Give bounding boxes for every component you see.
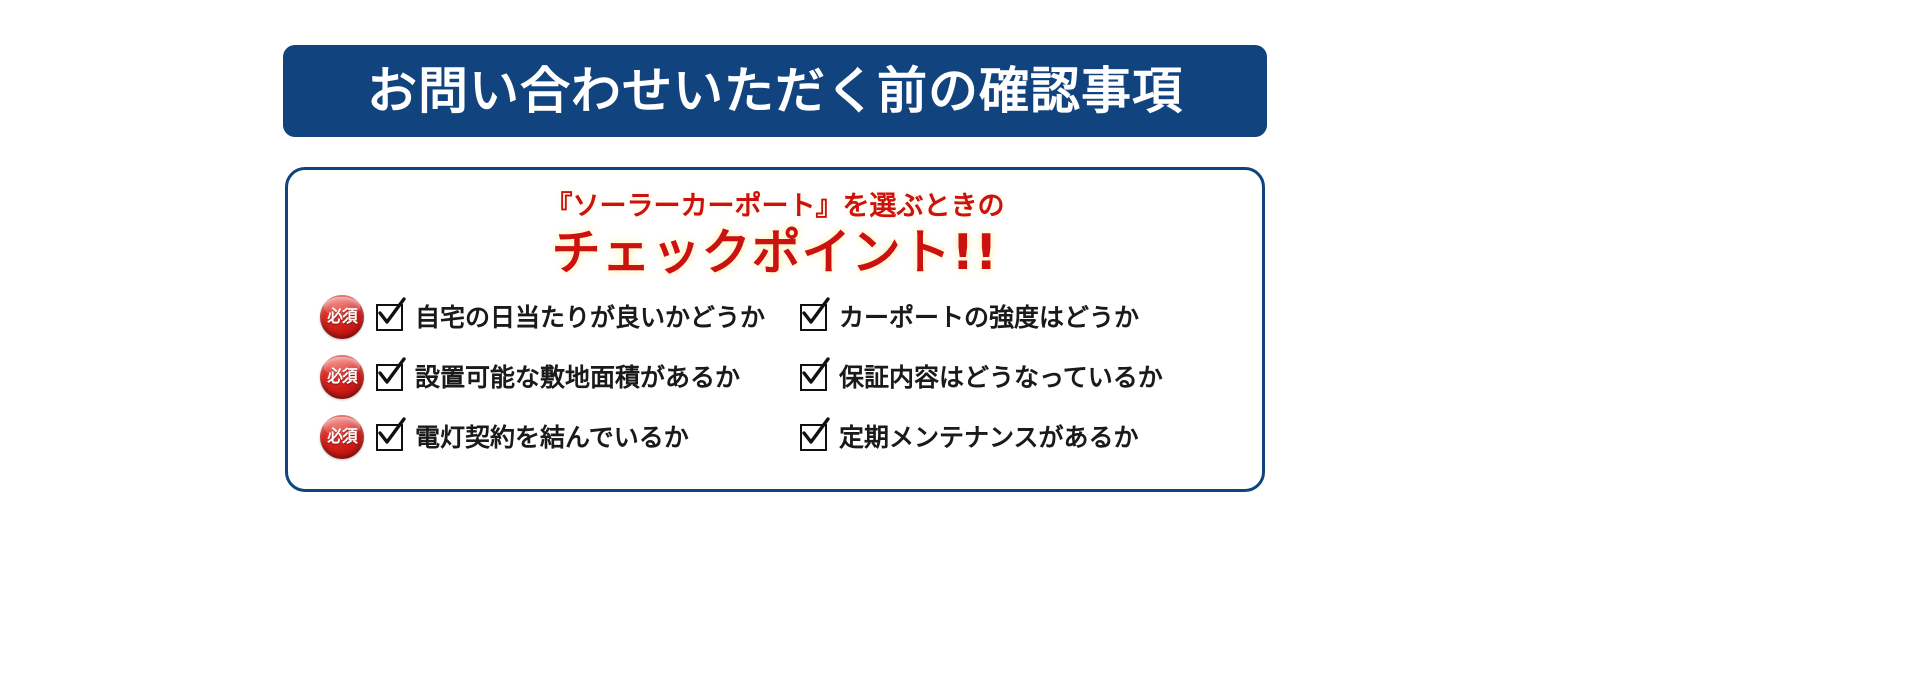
checkbox-checked-icon[interactable] <box>376 424 403 451</box>
checklist-item[interactable]: 必須 電灯契約を結んでいるか <box>320 418 800 456</box>
checklist-item-label: 設置可能な敷地面積があるか <box>415 365 740 390</box>
checklist: 必須 自宅の日当たりが良いかどうか <box>320 298 1236 456</box>
checklist-item[interactable]: 保証内容はどうなっているか <box>800 358 1236 396</box>
checklist-item-label: 自宅の日当たりが良いかどうか <box>415 305 765 330</box>
required-badge: 必須 <box>320 295 364 339</box>
checkbox-checked-icon[interactable] <box>376 304 403 331</box>
required-badge-slot: 必須 <box>320 355 376 399</box>
checklist-column-left: 必須 自宅の日当たりが良いかどうか <box>320 298 800 456</box>
required-badge-slot: 必須 <box>320 295 376 339</box>
checklist-item-label: 定期メンテナンスがあるか <box>839 425 1139 450</box>
checklist-item[interactable]: 必須 設置可能な敷地面積があるか <box>320 358 800 396</box>
checklist-item-label: カーポートの強度はどうか <box>839 305 1139 330</box>
checkbox-checked-icon[interactable] <box>800 304 827 331</box>
checkbox-checked-icon[interactable] <box>376 364 403 391</box>
checkpoint-card: 『ソーラーカーポート』を選ぶときの チェックポイント!! 必須 <box>285 167 1265 492</box>
required-badge: 必須 <box>320 415 364 459</box>
required-badge-label: 必須 <box>327 309 356 326</box>
checklist-item-label: 保証内容はどうなっているか <box>839 365 1163 390</box>
checkbox-checked-icon[interactable] <box>800 424 827 451</box>
checkbox-checked-icon[interactable] <box>800 364 827 391</box>
checklist-item[interactable]: カーポートの強度はどうか <box>800 298 1236 336</box>
required-badge-slot: 必須 <box>320 415 376 459</box>
required-badge-label: 必須 <box>327 369 356 386</box>
card-sub-heading: 『ソーラーカーポート』を選ぶときの <box>288 192 1262 222</box>
required-badge-label: 必須 <box>327 429 356 446</box>
checklist-item[interactable]: 定期メンテナンスがあるか <box>800 418 1236 456</box>
card-main-heading: チェックポイント!! <box>288 226 1262 280</box>
page-root: お問い合わせいただく前の確認事項 『ソーラーカーポート』を選ぶときの チェックポ… <box>0 0 1920 685</box>
checklist-item-label: 電灯契約を結んでいるか <box>415 425 689 450</box>
page-title: お問い合わせいただく前の確認事項 <box>367 66 1183 116</box>
header-banner: お問い合わせいただく前の確認事項 <box>283 45 1267 137</box>
required-badge: 必須 <box>320 355 364 399</box>
checklist-item[interactable]: 必須 自宅の日当たりが良いかどうか <box>320 298 800 336</box>
checklist-column-right: カーポートの強度はどうか 保証内容はどうなっているか <box>800 298 1236 456</box>
